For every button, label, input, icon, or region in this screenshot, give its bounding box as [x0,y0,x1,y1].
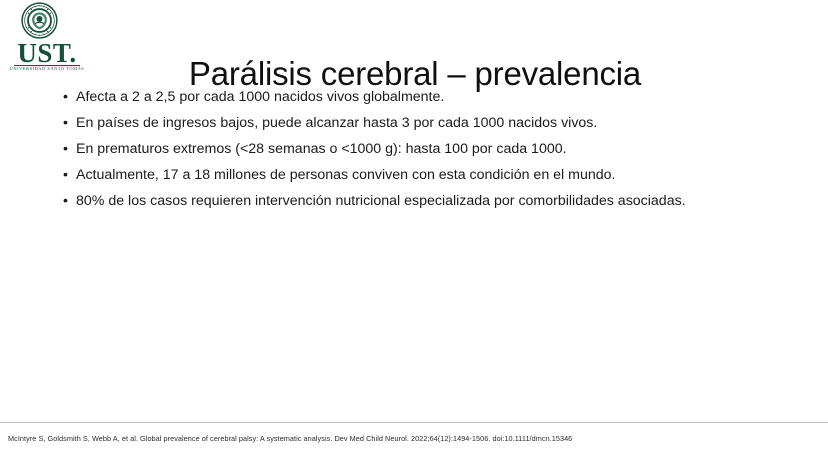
list-item: • En países de ingresos bajos, puede alc… [60,116,800,131]
university-logo: UST. UNIVERSIDAD SANTO TOMÁS [6,1,88,77]
list-item-text: En prematuros extremos (<28 semanas o <1… [76,141,567,157]
ust-wordmark-text: UST [17,38,69,68]
list-item-text: 80% de los casos requieren intervención … [76,193,686,209]
bullet-marker-icon: • [63,90,68,105]
footer-citation: McIntyre S, Goldsmith S, Webb A, et al. … [8,434,572,444]
bullet-marker-icon: • [63,168,68,183]
ust-wordmark-period: . [69,38,76,68]
list-item: • En prematuros extremos (<28 semanas o … [60,142,800,157]
bullet-marker-icon: • [63,116,68,131]
ust-seal-icon [21,2,58,39]
page-title: Parálisis cerebral – prevalencia [100,54,730,94]
ust-subtitle: UNIVERSIDAD SANTO TOMÁS [6,66,88,71]
list-item-text: Actualmente, 17 a 18 millones de persona… [76,167,615,183]
list-item: • Afecta a 2 a 2,5 por cada 1000 nacidos… [60,90,800,105]
presentation-slide: UST. UNIVERSIDAD SANTO TOMÁS Parálisis c… [0,0,828,466]
list-item: • Actualmente, 17 a 18 millones de perso… [60,168,800,183]
list-item-text: En países de ingresos bajos, puede alcan… [76,115,597,131]
ust-wordmark: UST. [6,40,88,67]
bullet-list: • Afecta a 2 a 2,5 por cada 1000 nacidos… [60,90,800,220]
bullet-marker-icon: • [63,142,68,157]
list-item-text: Afecta a 2 a 2,5 por cada 1000 nacidos v… [76,89,444,105]
bullet-marker-icon: • [63,194,68,209]
list-item: • 80% de los casos requieren intervenció… [60,194,800,209]
footer-divider [0,422,828,423]
